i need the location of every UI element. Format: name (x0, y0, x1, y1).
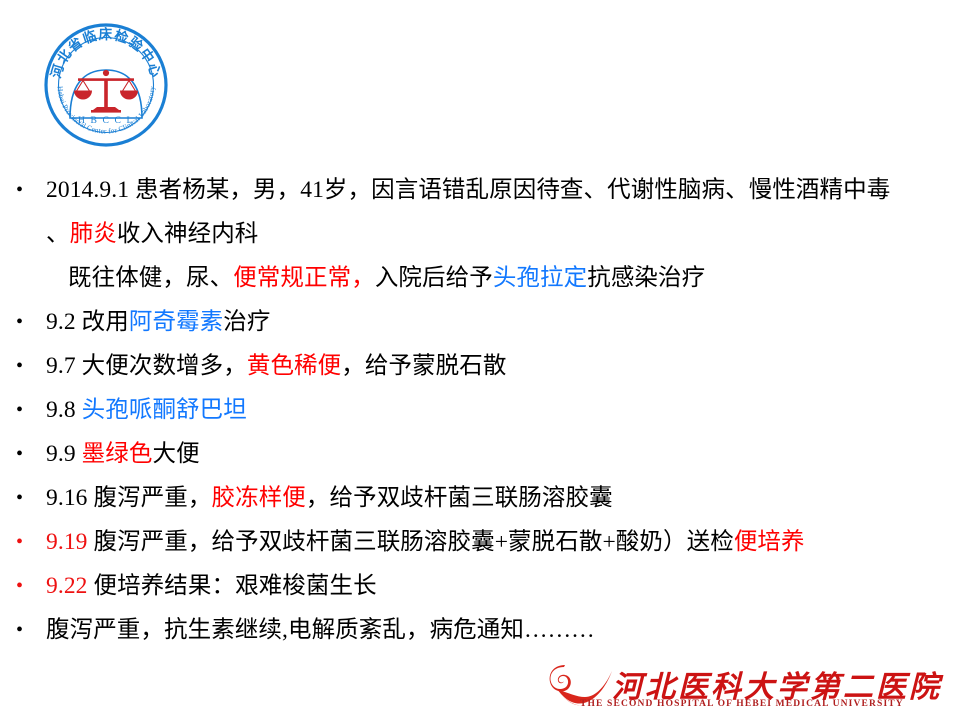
bullet-line: •9.19 腹泻严重，给予双歧杆菌三联肠溶胶囊+蒙脱石散+酸奶）送检便培养 (0, 520, 960, 564)
text-segment: 、 (46, 221, 70, 247)
second-hospital-hebei-medical-university-logo: 河北医科大学第二医院 THE SECOND HOSPITAL OF HEBEI … (548, 663, 946, 715)
text-segment: 入院后给予 (375, 265, 493, 291)
bullet-line: •腹泻严重，抗生素继续,电解质紊乱，病危通知……… (0, 608, 960, 652)
text-segment: 便常规正常， (233, 265, 375, 291)
hospital-name-en: THE SECOND HOSPITAL OF HEBEI MEDICAL UNI… (580, 699, 904, 709)
hebei-clinical-laboratory-seal-logo: 河北省临床检验中心 Hebei Provincial Center for Cl… (43, 22, 169, 148)
bullet-line: •2014.9.1 患者杨某，男，41岁，因言语错乱原因待查、代谢性脑病、慢性酒… (0, 168, 960, 212)
text-segment: 便培养 (734, 529, 805, 555)
text-segment: 既往体健，尿、 (68, 265, 233, 291)
text-segment: 大便 (152, 441, 199, 467)
text-segment: 治疗 (223, 309, 270, 335)
bullet-marker-icon: • (16, 564, 30, 608)
bullet-marker-icon: • (16, 608, 30, 652)
bullet-marker-icon: • (16, 168, 30, 212)
text-segment: 腹泻严重，抗生素继续,电解质紊乱，病危通知……… (46, 617, 595, 643)
bullet-marker-icon: • (16, 432, 30, 476)
text-segment: 黄色稀便 (247, 353, 341, 379)
text-segment: 阿奇霉素 (129, 309, 223, 335)
bullet-line: •9.9 墨绿色大便 (0, 432, 960, 476)
text-segment: 9.19 (46, 529, 88, 555)
text-segment: 9.22 (46, 573, 88, 599)
bullet-marker-icon: • (16, 520, 30, 564)
text-segment: 便培养结果：艰难梭菌生长 (88, 573, 377, 599)
text-segment: 腹泻严重，给予双歧杆菌三联肠溶胶囊+蒙脱石散+酸奶）送检 (88, 529, 734, 555)
text-segment: 9.9 (46, 441, 82, 467)
text-segment: 墨绿色 (82, 441, 153, 467)
text-segment: 头孢哌酮舒巴坦 (82, 397, 247, 423)
text-segment: 收入神经内科 (117, 221, 259, 247)
bullet-line: •9.16 腹泻严重，胶冻样便，给予双歧杆菌三联肠溶胶囊 (0, 476, 960, 520)
seal-abbrev-text: H B C C L (78, 115, 134, 126)
slide-bullet-list: •2014.9.1 患者杨某，男，41岁，因言语错乱原因待查、代谢性脑病、慢性酒… (0, 168, 960, 652)
bullet-line: •9.22 便培养结果：艰难梭菌生长 (0, 564, 960, 608)
text-segment: ，给予蒙脱石散 (341, 353, 506, 379)
bullet-line: •9.8 头孢哌酮舒巴坦 (0, 388, 960, 432)
text-segment: 抗感染治疗 (587, 265, 705, 291)
bullet-line: •9.2 改用阿奇霉素治疗 (0, 300, 960, 344)
text-segment: 9.7 大便次数增多， (46, 353, 247, 379)
text-segment: 头孢拉定 (493, 265, 587, 291)
bullet-line: •9.7 大便次数增多，黄色稀便，给予蒙脱石散 (0, 344, 960, 388)
bullet-marker-icon: • (16, 388, 30, 432)
text-segment: 胶冻样便 (212, 485, 306, 511)
text-segment: 9.2 改用 (46, 309, 129, 335)
text-segment: 9.16 腹泻严重， (46, 485, 212, 511)
bullet-marker-icon: • (16, 300, 30, 344)
bullet-line: 既往体健，尿、便常规正常，入院后给予头孢拉定抗感染治疗 (0, 256, 960, 300)
text-segment: 9.8 (46, 397, 82, 423)
text-segment: 2014.9.1 患者杨某，男，41岁，因言语错乱原因待查、代谢性脑病、慢性酒精… (46, 177, 890, 203)
text-segment: ，给予双歧杆菌三联肠溶胶囊 (306, 485, 613, 511)
bullet-marker-icon: • (16, 476, 30, 520)
text-segment: 肺炎 (70, 221, 117, 247)
bullet-marker-icon: • (16, 344, 30, 388)
bullet-line: 、肺炎收入神经内科 (0, 212, 960, 256)
